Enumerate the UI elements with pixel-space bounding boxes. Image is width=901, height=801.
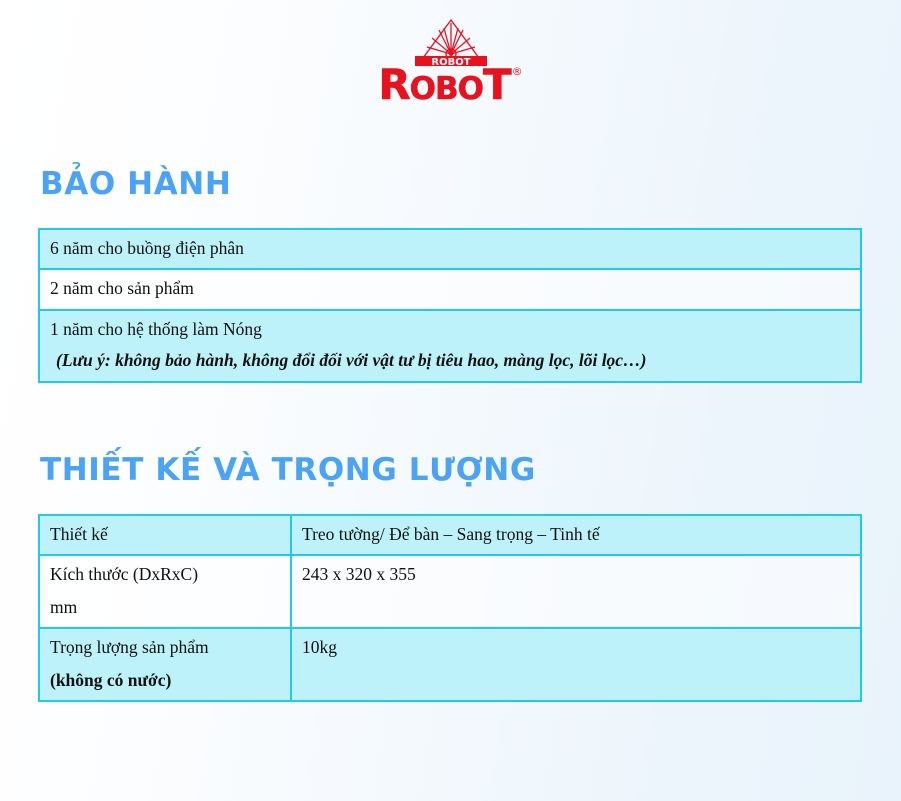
table-row: 2 năm cho sản phẩm: [39, 269, 861, 309]
warranty-text: 2 năm cho sản phẩm: [50, 278, 194, 298]
warranty-cell-product: 2 năm cho sản phẩm: [39, 269, 861, 309]
wordmark-middle: OBO: [410, 71, 483, 107]
design-value-dimensions: 243 x 320 x 355: [291, 555, 861, 628]
robot-pyramid-emblem-icon: ROBOT: [391, 18, 511, 66]
row-value: 10kg: [302, 637, 337, 657]
warranty-text: 6 năm cho buồng điện phân: [50, 238, 244, 258]
design-value-weight: 10kg: [291, 628, 861, 701]
warranty-table: 6 năm cho buồng điện phân 2 năm cho sản …: [38, 228, 862, 383]
row-label-qualifier: (không có nước): [50, 668, 280, 693]
row-label-unit: mm: [50, 595, 280, 620]
brand-logo: ROBOT ROBOT ®: [0, 18, 901, 113]
warranty-cell-heating: 1 năm cho hệ thống làm Nóng (Lưu ý: khôn…: [39, 310, 861, 382]
row-label: Kích thước (DxRxC): [50, 564, 198, 584]
warranty-text: 1 năm cho hệ thống làm Nóng: [50, 319, 262, 339]
row-label: Thiết kế: [50, 524, 108, 544]
row-label: Trọng lượng sản phẩm: [50, 637, 209, 657]
brand-wordmark: ROBOT ®: [378, 64, 522, 110]
warranty-section-heading: BẢO HÀNH: [40, 166, 231, 202]
row-value: 243 x 320 x 355: [302, 564, 416, 584]
design-table: Thiết kế Treo tường/ Để bàn – Sang trọng…: [38, 514, 862, 702]
design-label-dimensions: Kích thước (DxRxC) mm: [39, 555, 291, 628]
wordmark-initial: R: [378, 60, 409, 109]
wordmark-text: ROBOT: [378, 64, 510, 110]
registered-trademark-icon: ®: [512, 65, 523, 78]
row-value: Treo tường/ Để bàn – Sang trọng – Tinh t…: [302, 524, 600, 544]
table-row: Thiết kế Treo tường/ Để bàn – Sang trọng…: [39, 515, 861, 555]
design-section-heading: THIẾT KẾ VÀ TRỌNG LƯỢNG: [40, 452, 536, 488]
table-row: Kích thước (DxRxC) mm 243 x 320 x 355: [39, 555, 861, 628]
wordmark-final: T: [483, 60, 511, 109]
warranty-cell-electrolysis: 6 năm cho buồng điện phân: [39, 229, 861, 269]
table-row: 6 năm cho buồng điện phân: [39, 229, 861, 269]
table-row: 1 năm cho hệ thống làm Nóng (Lưu ý: khôn…: [39, 310, 861, 382]
table-row: Trọng lượng sản phẩm (không có nước) 10k…: [39, 628, 861, 701]
warranty-note: (Lưu ý: không bảo hành, không đổi đối vớ…: [50, 348, 850, 373]
design-label-weight: Trọng lượng sản phẩm (không có nước): [39, 628, 291, 701]
design-value-style: Treo tường/ Để bàn – Sang trọng – Tinh t…: [291, 515, 861, 555]
design-label-style: Thiết kế: [39, 515, 291, 555]
